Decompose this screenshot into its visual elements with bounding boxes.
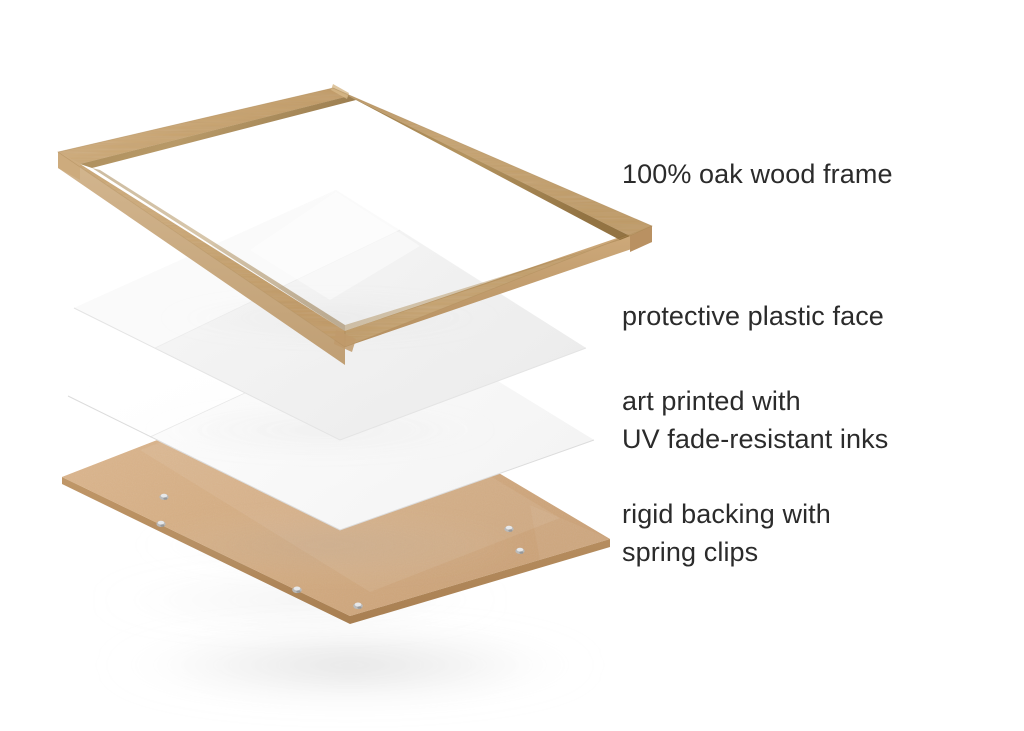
- callout-label-rigid-backing-spring-clips: rigid backing with spring clips: [622, 495, 831, 571]
- callout-label-art-printed-uv-inks: art printed with UV fade-resistant inks: [622, 382, 888, 458]
- callout-label-oak-wood-frame: 100% oak wood frame: [622, 155, 893, 193]
- callout-oak-wood-frame: 100% oak wood frame: [622, 155, 893, 193]
- callout-art-printed-uv-inks: art printed with UV fade-resistant inks: [622, 382, 888, 458]
- exploded-frame-diagram: 100% oak wood frame protective plastic f…: [0, 0, 1024, 731]
- exploded-diagram-artwork: [0, 0, 1024, 731]
- callout-label-protective-plastic-face: protective plastic face: [622, 297, 884, 335]
- frame-inner-bevel-top-left: [80, 96, 356, 168]
- callout-rigid-backing-spring-clips: rigid backing with spring clips: [622, 495, 831, 571]
- frame-inner-bevel-top-right: [349, 96, 630, 240]
- backing-shadow: [100, 623, 600, 707]
- callout-protective-plastic-face: protective plastic face: [622, 297, 884, 335]
